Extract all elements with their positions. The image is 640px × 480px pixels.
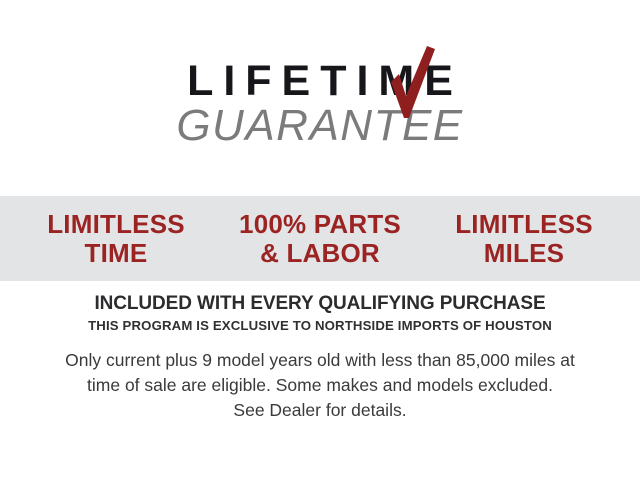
footer-subheadline: THIS PROGRAM IS EXCLUSIVE TO NORTHSIDE I…: [0, 318, 640, 334]
feature-band: LIMITLESS TIME 100% PARTS & LABOR LIMITL…: [0, 196, 640, 281]
footer-disclaimer: Only current plus 9 model years old with…: [0, 348, 640, 423]
disclaimer-line: time of sale are eligible. Some makes an…: [0, 373, 640, 398]
feature-column-limitless-time: LIMITLESS TIME: [14, 210, 218, 268]
feature-line-1: LIMITLESS: [47, 209, 185, 239]
feature-line-1: LIMITLESS: [455, 209, 593, 239]
logo-lifetime-text: LIFETIME: [0, 60, 640, 103]
feature-line-2: TIME: [14, 239, 218, 268]
logo-block: LIFETIME GUARANTEE: [0, 46, 640, 156]
disclaimer-line: See Dealer for details.: [0, 398, 640, 423]
footer-block: INCLUDED WITH EVERY QUALIFYING PURCHASE …: [0, 292, 640, 423]
footer-headline: INCLUDED WITH EVERY QUALIFYING PURCHASE: [0, 292, 640, 315]
logo-guarantee-text: GUARANTEE: [0, 104, 640, 148]
feature-line-2: & LABOR: [218, 239, 422, 268]
feature-column-parts-labor: 100% PARTS & LABOR: [218, 210, 422, 268]
disclaimer-line: Only current plus 9 model years old with…: [0, 348, 640, 373]
feature-line-1: 100% PARTS: [239, 209, 401, 239]
feature-column-limitless-miles: LIMITLESS MILES: [422, 210, 626, 268]
lifetime-guarantee-poster: LIFETIME GUARANTEE LIMITLESS TIME 100% P…: [0, 0, 640, 480]
feature-line-2: MILES: [422, 239, 626, 268]
